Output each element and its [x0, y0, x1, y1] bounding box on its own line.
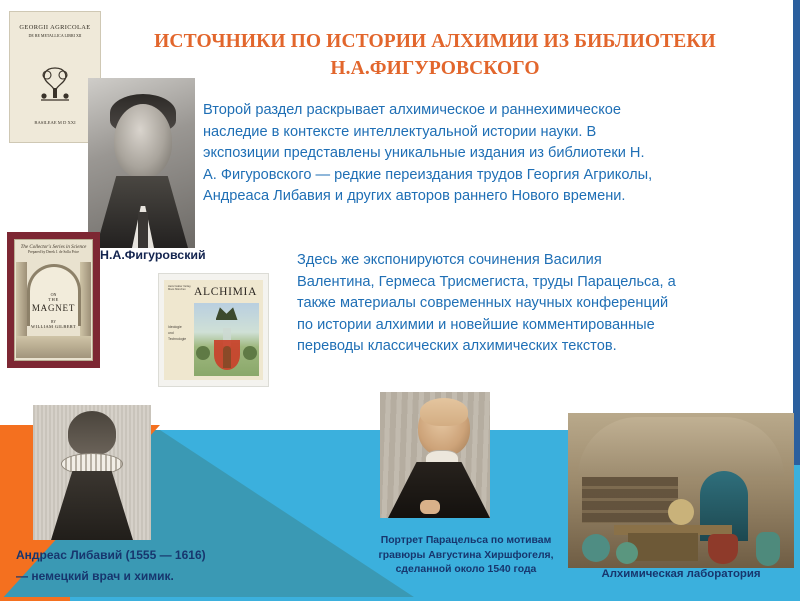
agricola-imprint: BASILEAE M D XXI: [10, 120, 100, 126]
caption-paracelsus-line-1: Портрет Парацельса по мотивам: [355, 534, 577, 549]
portrait-face: [114, 104, 172, 178]
caption-libavius: Андреас Либавий (1555 — 1616) — немецкий…: [16, 545, 246, 587]
magnet-author: WILLIAM GILBERT: [15, 324, 92, 329]
image-portrait-figurovsky: [88, 78, 195, 248]
image-alchemical-laboratory: [568, 413, 794, 568]
caption-libavius-line-1: Андреас Либавий (1555 — 1616): [16, 545, 246, 566]
slide-title-line-1: ИСТОЧНИКИ ПО ИСТОРИИ АЛХИМИИ ИЗ БИБЛИОТЕ…: [154, 31, 716, 52]
laboratory-shelving: [582, 477, 678, 523]
slide-title-line-2: Н.А.ФИГУРОВСКОГО: [100, 55, 770, 82]
caption-paracelsus-line-3: сделанной около 1540 года: [355, 563, 577, 578]
paragraph-1-line-3: экспозиции представлены уникальные издан…: [203, 143, 786, 165]
magnet-word-the: THE: [15, 297, 92, 302]
background-strip-teal-right: [793, 465, 800, 601]
paragraph-1-line-4: А. Фигуровского — редкие переиздания тру…: [203, 165, 786, 187]
image-portrait-libavius: [33, 405, 151, 540]
slide-title: ИСТОЧНИКИ ПО ИСТОРИИ АЛХИМИИ ИЗ БИБЛИОТЕ…: [100, 28, 770, 82]
laboratory-vessel-3: [708, 534, 738, 564]
paragraph-1-line-2: наследие в контексте интеллектуальной ис…: [203, 122, 786, 144]
alchimia-cover-illustration: [194, 303, 259, 376]
alchimia-homunculus-figure: [223, 346, 231, 368]
agricola-title-text: GEORGII AGRICOLAE: [10, 24, 100, 31]
body-paragraph-1: Второй раздел раскрывает алхимическое и …: [203, 100, 786, 208]
magnet-series-subtitle: Prepared by Derek J. de Solla Price: [15, 250, 92, 255]
alchimia-tree-left: [196, 346, 210, 360]
alchimia-publisher: Heinz Haber Verlag Moos München: [168, 285, 192, 292]
caption-figurovsky: Н.А.Фигуровский: [100, 248, 206, 262]
image-book-alchimia: Heinz Haber Verlag Moos München ALCHIMIA…: [159, 274, 268, 386]
alchimia-tree-right: [243, 346, 257, 360]
laboratory-vessel-2: [616, 542, 638, 564]
laboratory-vessel-4: [756, 532, 780, 566]
paragraph-2-line-5: переводы классических алхимических текст…: [297, 336, 786, 358]
paracelsus-forehead: [420, 398, 468, 426]
portrait-tie: [138, 212, 148, 248]
magnet-series-heading: The Collector's Series in Science Prepar…: [15, 245, 92, 255]
laboratory-vaulted-ceiling: [578, 417, 784, 477]
caption-laboratory: Алхимическая лаборатория: [562, 568, 800, 580]
caption-paracelsus-line-2: гравюры Августина Хиршфогеля,: [355, 549, 577, 564]
agricola-subtitle-text: DE RE METALLICA LIBRI XII: [10, 33, 100, 38]
paragraph-2-line-1: Здесь же экспонируются сочинения Василия: [297, 250, 786, 272]
paracelsus-hand: [420, 500, 440, 514]
alchimia-subtitle-line-2: und: [168, 331, 174, 335]
alchimia-subtitle-line-1: Ideologie: [168, 325, 182, 329]
magnet-cover-base: [16, 336, 91, 358]
alchimia-crown-icon: [216, 306, 238, 320]
laboratory-glass-globe: [668, 499, 694, 525]
background-bottom-line: [0, 597, 800, 601]
paragraph-2-line-4: по истории алхимии и новейшие комментиро…: [297, 315, 786, 337]
magnet-title-block: ON THE MAGNET BY WILLIAM GILBERT: [15, 292, 92, 329]
alchimia-subtitle-line-3: Technologie: [168, 337, 186, 341]
image-book-on-the-magnet: The Collector's Series in Science Prepar…: [7, 232, 100, 368]
image-portrait-paracelsus: [380, 392, 490, 518]
laboratory-workbench-base: [628, 533, 698, 561]
background-strip-navy-right: [793, 0, 800, 470]
caption-paracelsus: Портрет Парацельса по мотивам гравюры Ав…: [355, 534, 577, 578]
paragraph-1-line-5: Андреаса Либавия и других авторов раннег…: [203, 186, 786, 208]
laboratory-vessel-1: [582, 534, 610, 562]
alchimia-title: ALCHIMIA: [194, 286, 257, 298]
caption-libavius-line-2: — немецкий врач и химик.: [16, 566, 246, 587]
body-paragraph-2: Здесь же экспонируются сочинения Василия…: [297, 250, 786, 358]
libavius-face: [78, 421, 106, 457]
agricola-heading: GEORGII AGRICOLAE DE RE METALLICA LIBRI …: [10, 24, 100, 38]
paragraph-2-line-2: Валентина, Гермеса Трисмегиста, труды Па…: [297, 272, 786, 294]
presentation-slide: ИСТОЧНИКИ ПО ИСТОРИИ АЛХИМИИ ИЗ БИБЛИОТЕ…: [0, 0, 800, 601]
agricola-printers-mark-icon: [33, 64, 77, 104]
magnet-word-title: MAGNET: [15, 303, 92, 313]
paragraph-2-line-3: также материалы современных научных конф…: [297, 293, 786, 315]
paragraph-1-line-1: Второй раздел раскрывает алхимическое и …: [203, 100, 786, 122]
background-bottom-line-orange: [0, 597, 70, 601]
alchimia-subtitle: Ideologie und Technologie: [168, 324, 192, 342]
